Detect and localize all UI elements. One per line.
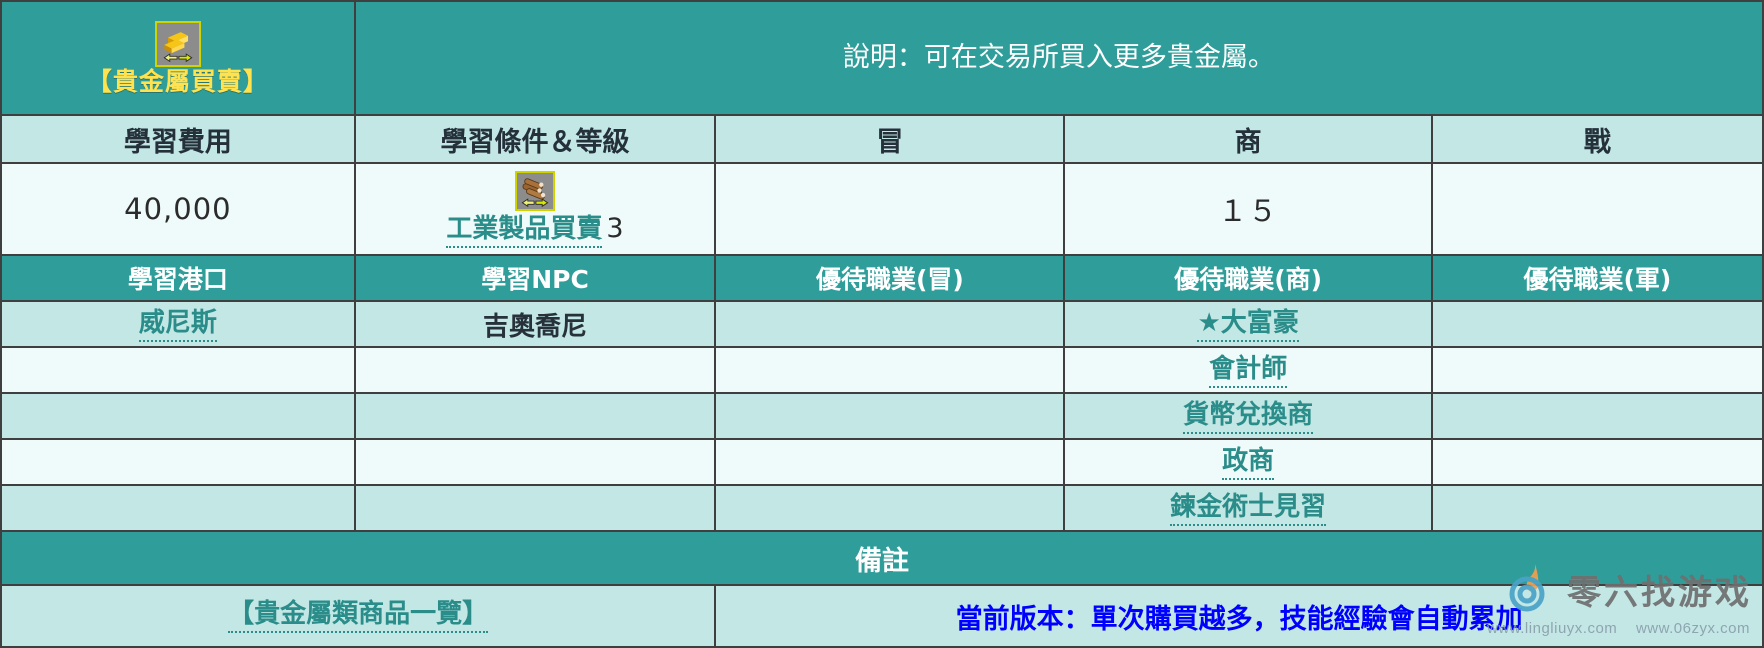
table-row: 貨幣兌換商 bbox=[1, 393, 1763, 439]
cell-learn-npc bbox=[355, 439, 716, 485]
skill-info-sheet: 【貴金屬買賣】 說明：可在交易所買入更多貴金屬。 學習費用 學習條件＆等級 冒 … bbox=[0, 0, 1764, 648]
learn-cost-value: 40,000 bbox=[124, 192, 231, 226]
cell-job-adventure bbox=[715, 301, 1064, 347]
cell-adventure-rank bbox=[715, 163, 1064, 255]
cell-battle-rank bbox=[1432, 163, 1763, 255]
cell-job-battle bbox=[1432, 439, 1763, 485]
header-preferred-job-adventure: 優待職業(冒) bbox=[715, 255, 1064, 301]
skill-title-label: 【貴金屬買賣】 bbox=[2, 69, 354, 95]
cell-job-battle bbox=[1432, 347, 1763, 393]
cell-job-adventure bbox=[715, 485, 1064, 531]
header-trade: 商 bbox=[1064, 115, 1431, 163]
cell-learn-port bbox=[1, 393, 355, 439]
job-trade-link[interactable]: 貨幣兌換商 bbox=[1183, 401, 1313, 434]
cell-trade-rank: １５ bbox=[1064, 163, 1431, 255]
cell-learn-port bbox=[1, 439, 355, 485]
learn-port-link[interactable]: 威尼斯 bbox=[139, 309, 217, 342]
cell-learn-npc bbox=[355, 485, 716, 531]
cell-learn-port bbox=[1, 485, 355, 531]
header-row-2: 學習港口 學習NPC 優待職業(冒) 優待職業(商) 優待職業(軍) bbox=[1, 255, 1763, 301]
cell-learn-port: 威尼斯 bbox=[1, 301, 355, 347]
cell-learn-port bbox=[1, 347, 355, 393]
cell-job-adventure bbox=[715, 393, 1064, 439]
title-row: 【貴金屬買賣】 說明：可在交易所買入更多貴金屬。 bbox=[1, 1, 1763, 115]
notes-link-cell: 【貴金屬類商品一覽】 bbox=[1, 585, 715, 647]
job-trade-link[interactable]: 政商 bbox=[1222, 447, 1274, 480]
condition-skill-link[interactable]: 工業製品買賣 bbox=[446, 215, 602, 248]
condition-skill-level: 3 bbox=[606, 213, 623, 244]
gold-bars-trade-icon bbox=[155, 21, 201, 67]
trade-rank-value: １５ bbox=[1218, 194, 1278, 228]
cell-job-battle bbox=[1432, 485, 1763, 531]
header-adventure: 冒 bbox=[715, 115, 1064, 163]
table-row: 威尼斯 吉奧喬尼 ★大富豪 bbox=[1, 301, 1763, 347]
cell-job-trade: 貨幣兌換商 bbox=[1064, 393, 1431, 439]
table-row: 鍊金術士見習 bbox=[1, 485, 1763, 531]
header-preferred-job-trade: 優待職業(商) bbox=[1064, 255, 1431, 301]
job-trade-link[interactable]: ★大富豪 bbox=[1197, 309, 1298, 342]
notes-header-row: 備註 bbox=[1, 531, 1763, 585]
notes-body-row: 【貴金屬類商品一覽】 當前版本：單次購買越多，技能經驗會自動累加 bbox=[1, 585, 1763, 647]
learn-npc-name: 吉奧喬尼 bbox=[483, 312, 587, 342]
value-row-1: 40,000 bbox=[1, 163, 1763, 255]
cell-job-trade: ★大富豪 bbox=[1064, 301, 1431, 347]
notes-text: 當前版本：單次購買越多，技能經驗會自動累加 bbox=[956, 604, 1523, 635]
table-row: 政商 bbox=[1, 439, 1763, 485]
header-row-1: 學習費用 學習條件＆等級 冒 商 戰 bbox=[1, 115, 1763, 163]
skill-description-cell: 說明：可在交易所買入更多貴金屬。 bbox=[355, 1, 1763, 115]
job-trade-link[interactable]: 鍊金術士見習 bbox=[1170, 493, 1326, 526]
header-battle: 戰 bbox=[1432, 115, 1763, 163]
cell-job-adventure bbox=[715, 439, 1064, 485]
cell-job-trade: 會計師 bbox=[1064, 347, 1431, 393]
cell-learn-npc bbox=[355, 347, 716, 393]
precious-metal-goods-list-link[interactable]: 【貴金屬類商品一覽】 bbox=[228, 600, 488, 633]
cell-job-adventure bbox=[715, 347, 1064, 393]
cell-job-battle bbox=[1432, 393, 1763, 439]
industrial-goods-trade-icon bbox=[515, 171, 555, 211]
cell-job-trade: 政商 bbox=[1064, 439, 1431, 485]
cell-learn-condition: 工業製品買賣 3 bbox=[355, 163, 716, 255]
header-learn-npc: 學習NPC bbox=[355, 255, 716, 301]
cell-learn-cost: 40,000 bbox=[1, 163, 355, 255]
skill-title-cell: 【貴金屬買賣】 bbox=[1, 1, 355, 115]
cell-job-trade: 鍊金術士見習 bbox=[1064, 485, 1431, 531]
cell-learn-npc: 吉奧喬尼 bbox=[355, 301, 716, 347]
header-learn-port: 學習港口 bbox=[1, 255, 355, 301]
table-row: 會計師 bbox=[1, 347, 1763, 393]
cell-job-battle bbox=[1432, 301, 1763, 347]
job-trade-link[interactable]: 會計師 bbox=[1209, 355, 1287, 388]
skill-description-text: 說明：可在交易所買入更多貴金屬。 bbox=[843, 42, 1275, 73]
notes-header-label: 備註 bbox=[1, 531, 1763, 585]
cell-learn-npc bbox=[355, 393, 716, 439]
notes-text-cell: 當前版本：單次購買越多，技能經驗會自動累加 bbox=[715, 585, 1763, 647]
skill-table: 【貴金屬買賣】 說明：可在交易所買入更多貴金屬。 學習費用 學習條件＆等級 冒 … bbox=[0, 0, 1764, 648]
header-preferred-job-battle: 優待職業(軍) bbox=[1432, 255, 1763, 301]
header-learn-condition: 學習條件＆等級 bbox=[355, 115, 716, 163]
header-learn-cost: 學習費用 bbox=[1, 115, 355, 163]
